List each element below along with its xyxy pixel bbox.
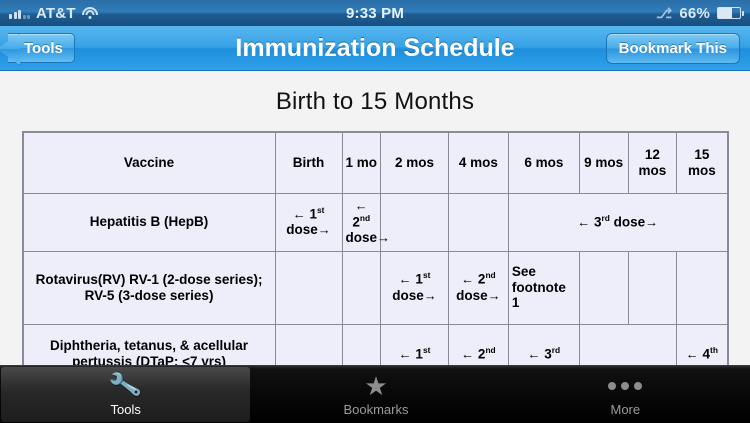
cell-rv-birth (275, 251, 342, 324)
navigation-bar: Tools Immunization Schedule Bookmark Thi… (0, 26, 750, 71)
back-button-label: Tools (24, 40, 63, 57)
cell-rv-4mos: ← 2nddose→ (449, 251, 509, 324)
status-bar-right: ⎇ 66% (656, 5, 741, 22)
bluetooth-icon: ⎇ (656, 6, 672, 20)
status-bar-left: AT&T (9, 5, 98, 22)
column-header-birth: Birth (275, 132, 342, 193)
cell-rv-15mos (677, 251, 728, 324)
cell-rv-12mos (628, 251, 677, 324)
column-header-vaccine: Vaccine (23, 132, 276, 193)
vaccine-name-hepb: Hepatitis B (HepB) (23, 193, 276, 251)
carrier-label: AT&T (36, 5, 76, 22)
immunization-schedule-table: Vaccine Birth 1 mo 2 mos 4 mos 6 mos 9 m… (22, 131, 729, 385)
column-header-4mos: 4 mos (449, 132, 509, 193)
cell-hepb-4mos (449, 193, 509, 251)
cell-hepb-2mos (381, 193, 449, 251)
app-root: AT&T 9:33 PM ⎇ 66% Tools Immunization Sc… (0, 0, 750, 423)
signal-bars-icon (9, 7, 30, 19)
tab-bookmarks-label: Bookmarks (343, 402, 408, 417)
cell-hepb-birth: ← 1stdose→ (275, 193, 342, 251)
vaccine-name-rotavirus: Rotavirus(RV) RV-1 (2-dose series); RV-5… (23, 251, 276, 324)
table-row: Hepatitis B (HepB) ← 1stdose→ ← 2nddose→… (23, 193, 728, 251)
battery-icon (717, 7, 741, 19)
cell-rv-6mos: See footnote 1 (508, 251, 579, 324)
battery-percent-label: 66% (679, 5, 710, 22)
bookmark-this-button[interactable]: Bookmark This (606, 33, 740, 64)
clock-label: 9:33 PM (0, 5, 750, 22)
column-header-1mo: 1 mo (342, 132, 381, 193)
star-icon: ★ (364, 373, 387, 399)
column-header-12mos: 12 mos (628, 132, 677, 193)
status-bar: AT&T 9:33 PM ⎇ 66% (0, 0, 750, 26)
bookmark-button-label: Bookmark This (619, 40, 727, 57)
tab-bookmarks[interactable]: ★ Bookmarks (251, 366, 500, 423)
cell-rv-1mo (342, 251, 381, 324)
tab-bar: 🔧 Tools ★ Bookmarks More (0, 365, 750, 423)
cell-hepb-1mo: ← 2nddose→ (342, 193, 381, 251)
column-header-9mos: 9 mos (579, 132, 628, 193)
cell-rv-9mos (579, 251, 628, 324)
table-row: Rotavirus(RV) RV-1 (2-dose series); RV-5… (23, 251, 728, 324)
table-header-row: Vaccine Birth 1 mo 2 mos 4 mos 6 mos 9 m… (23, 132, 728, 193)
column-header-15mos: 15 mos (677, 132, 728, 193)
cell-rv-2mos: ← 1stdose→ (381, 251, 449, 324)
tab-more-label: More (611, 402, 641, 417)
tab-more[interactable]: More (501, 366, 750, 423)
back-button-tools[interactable]: Tools (8, 33, 75, 63)
wifi-icon (82, 7, 98, 19)
column-header-6mos: 6 mos (508, 132, 579, 193)
ellipsis-icon (608, 373, 642, 399)
wrench-icon: 🔧 (110, 373, 141, 399)
tab-tools-label: Tools (110, 402, 140, 417)
tab-tools[interactable]: 🔧 Tools (1, 367, 250, 422)
cell-hepb-6to15mos: ← 3rd dose→ (508, 193, 727, 251)
column-header-2mos: 2 mos (381, 132, 449, 193)
schedule-heading: Birth to 15 Months (0, 71, 750, 131)
